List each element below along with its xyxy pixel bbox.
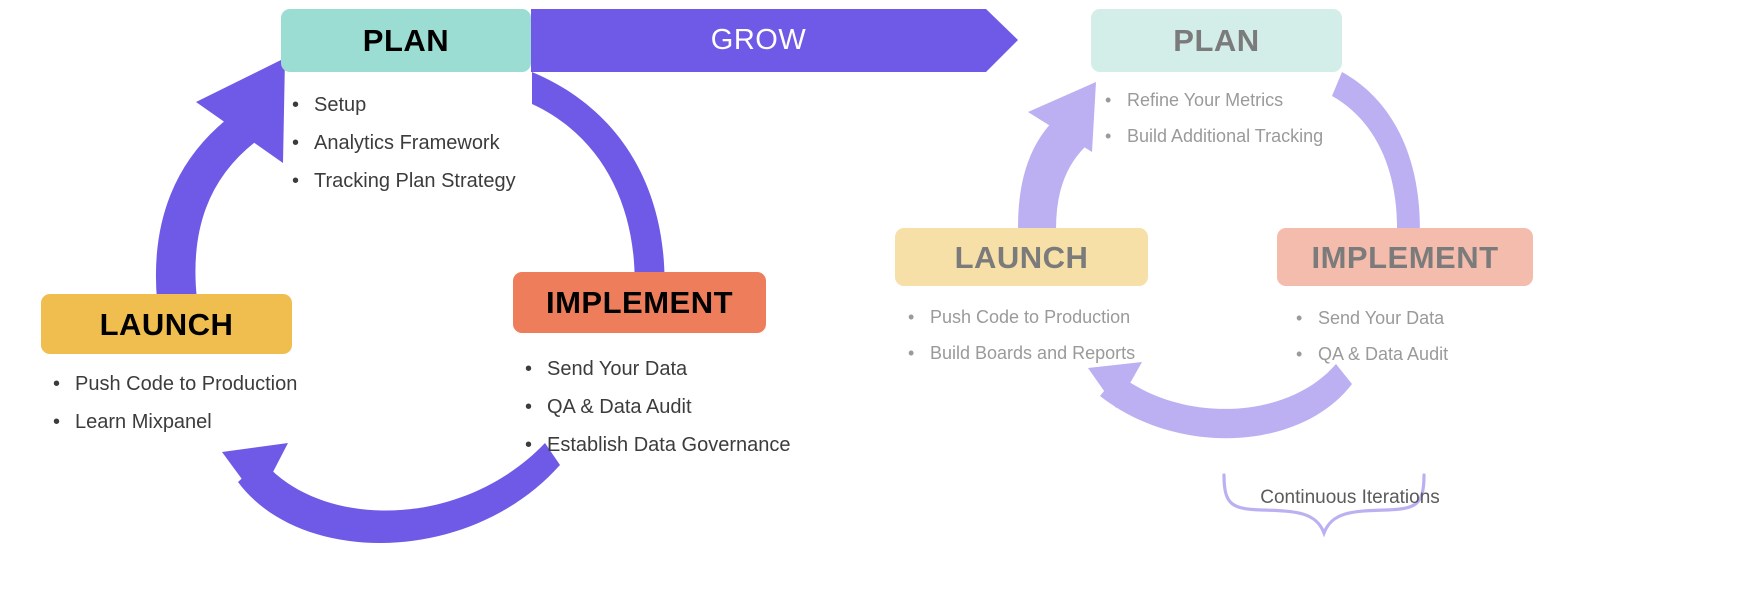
launch-box-faded[interactable]: LAUNCH [895,228,1148,286]
list-item-label: Tracking Plan Strategy [314,169,516,194]
bullet-icon: • [908,342,930,365]
bullet-icon: • [53,372,75,397]
plan-box-faded[interactable]: PLAN [1091,9,1342,72]
list-item-label: Refine Your Metrics [1127,89,1283,112]
plan-title-active: PLAN [363,25,449,56]
list-item: • Setup [292,93,516,118]
bullet-icon: • [53,410,75,435]
launch-box-active[interactable]: LAUNCH [41,294,292,354]
continuous-iterations-label: Continuous Iterations [1100,487,1600,509]
list-item-label: Send Your Data [547,357,687,382]
implement-title-active: IMPLEMENT [546,287,733,318]
list-item-label: Push Code to Production [930,306,1130,329]
list-item: • QA & Data Audit [525,395,790,420]
list-item: • Build Additional Tracking [1105,125,1323,148]
bullet-icon: • [292,93,314,118]
list-item: • Build Boards and Reports [908,342,1135,365]
list-item: • QA & Data Audit [1296,343,1448,366]
list-item-label: Learn Mixpanel [75,410,212,435]
list-item: • Send Your Data [525,357,790,382]
arrow-faded-plan-to-implement [1332,72,1420,250]
implement-box-faded[interactable]: IMPLEMENT [1277,228,1533,286]
list-item-label: QA & Data Audit [547,395,692,420]
list-item-label: Establish Data Governance [547,433,790,458]
list-item-label: Setup [314,93,366,118]
list-item: • Push Code to Production [53,372,297,397]
list-item-label: Build Boards and Reports [930,342,1135,365]
grow-banner-label: GROW [531,9,986,72]
list-item: • Learn Mixpanel [53,410,297,435]
bullet-icon: • [292,131,314,156]
list-item-label: QA & Data Audit [1318,343,1448,366]
plan-bullets-faded: • Refine Your Metrics • Build Additional… [1105,89,1323,160]
lifecycle-diagram: PLAN • Setup • Analytics Framework • Tra… [0,0,1740,589]
implement-title-faded: IMPLEMENT [1311,242,1498,273]
list-item: • Establish Data Governance [525,433,790,458]
bullet-icon: • [525,357,547,382]
list-item: • Push Code to Production [908,306,1135,329]
implement-box-active[interactable]: IMPLEMENT [513,272,766,333]
bullet-icon: • [292,169,314,194]
launch-title-active: LAUNCH [100,309,234,340]
launch-bullets-faded: • Push Code to Production • Build Boards… [908,306,1135,377]
list-item: • Tracking Plan Strategy [292,169,516,194]
list-item-label: Analytics Framework [314,131,500,156]
plan-bullets-active: • Setup • Analytics Framework • Tracking… [292,93,516,207]
bullet-icon: • [1105,89,1127,112]
implement-bullets-faded: • Send Your Data • QA & Data Audit [1296,307,1448,378]
bullet-icon: • [525,433,547,458]
launch-title-faded: LAUNCH [955,242,1089,273]
plan-title-faded: PLAN [1173,25,1259,56]
arrow-implement-to-launch [222,443,560,543]
list-item: • Refine Your Metrics [1105,89,1323,112]
bullet-icon: • [908,306,930,329]
list-item: • Analytics Framework [292,131,516,156]
arrow-faded-launch-to-plan [1025,82,1096,250]
bullet-icon: • [525,395,547,420]
list-item-label: Build Additional Tracking [1127,125,1323,148]
arrow-launch-to-plan [165,58,285,300]
implement-bullets-active: • Send Your Data • QA & Data Audit • Est… [525,357,790,471]
plan-box-active[interactable]: PLAN [281,9,531,72]
list-item: • Send Your Data [1296,307,1448,330]
list-item-label: Push Code to Production [75,372,297,397]
list-item-label: Send Your Data [1318,307,1444,330]
arrow-plan-to-implement [532,72,665,300]
launch-bullets-active: • Push Code to Production • Learn Mixpan… [53,372,297,448]
bullet-icon: • [1296,343,1318,366]
bullet-icon: • [1296,307,1318,330]
bullet-icon: • [1105,125,1127,148]
